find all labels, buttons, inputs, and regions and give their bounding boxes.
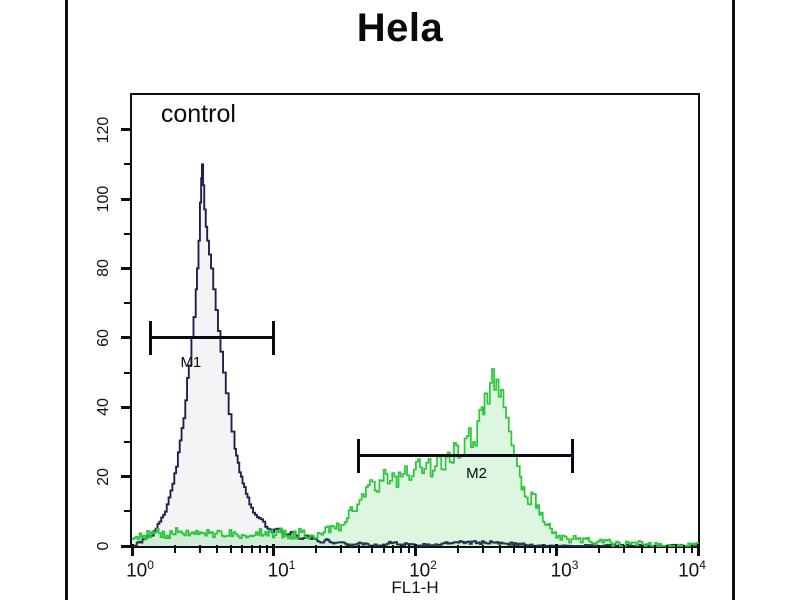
- x-axis-tick-label: 103: [551, 558, 579, 582]
- y-axis-minor-tick: [124, 302, 132, 304]
- marker-label-m2: M2: [466, 465, 487, 482]
- x-tick-exponent: 1: [289, 558, 296, 572]
- x-axis-minor-tick: [598, 545, 600, 553]
- y-axis-tick-label: 100: [95, 185, 113, 213]
- x-axis-major-tick: [272, 544, 275, 556]
- x-axis-minor-tick: [266, 545, 268, 553]
- x-axis-minor-tick: [383, 545, 385, 553]
- x-tick-exponent: 2: [430, 558, 437, 572]
- y-axis-major-tick: [121, 406, 132, 409]
- marker-cap-m1-left[interactable]: [149, 321, 152, 355]
- x-axis-minor-tick: [534, 545, 536, 553]
- x-axis-minor-tick: [691, 545, 693, 553]
- x-axis-minor-tick: [641, 545, 643, 553]
- marker-cap-m1-right[interactable]: [272, 321, 275, 355]
- plot-area: [132, 95, 698, 546]
- x-axis-minor-tick: [251, 545, 253, 553]
- y-axis-tick-label: 120: [95, 116, 113, 144]
- x-axis-minor-tick: [259, 545, 261, 553]
- y-axis-minor-tick: [124, 372, 132, 374]
- x-axis-minor-tick: [549, 545, 551, 553]
- x-axis-major-tick: [414, 544, 417, 556]
- x-tick-exponent: 0: [147, 558, 154, 572]
- x-axis-minor-tick: [482, 545, 484, 553]
- x-axis-minor-tick: [513, 545, 515, 553]
- x-tick-mantissa: 10: [409, 560, 430, 581]
- plot-frame: [130, 93, 700, 548]
- y-axis-tick-label: 80: [95, 254, 113, 282]
- x-tick-exponent: 3: [572, 558, 579, 572]
- x-tick-exponent: 4: [699, 558, 706, 572]
- y-axis-tick-label: 40: [95, 393, 113, 421]
- y-axis-minor-tick: [124, 233, 132, 235]
- x-axis-minor-tick: [371, 545, 373, 553]
- y-axis-tick-label: 20: [95, 463, 113, 491]
- x-axis-minor-tick: [499, 545, 501, 553]
- x-axis-major-tick: [131, 544, 134, 556]
- x-axis-tick-label: 101: [268, 558, 296, 582]
- x-axis-minor-tick: [230, 545, 232, 553]
- y-axis-tick-label: 60: [95, 324, 113, 352]
- x-axis-minor-tick: [400, 545, 402, 553]
- x-axis-minor-tick: [408, 545, 410, 553]
- marker-bar-m2[interactable]: [359, 454, 573, 457]
- y-axis-major-tick: [121, 475, 132, 478]
- figure-canvas: Hela Counts FL1-H 0204060801001201001011…: [0, 0, 800, 600]
- x-axis-minor-tick: [683, 545, 685, 553]
- x-tick-mantissa: 10: [678, 560, 699, 581]
- x-axis-minor-tick: [340, 545, 342, 553]
- x-axis-minor-tick: [654, 545, 656, 553]
- marker-cap-m2-right[interactable]: [571, 439, 574, 473]
- x-axis-minor-tick: [174, 545, 176, 553]
- curve-label-control: control: [161, 100, 236, 129]
- x-axis-tick-label: 100: [126, 558, 154, 582]
- x-axis-minor-tick: [315, 545, 317, 553]
- x-axis-minor-tick: [542, 545, 544, 553]
- x-axis-minor-tick: [675, 545, 677, 553]
- y-axis-minor-tick: [124, 163, 132, 165]
- marker-bar-m1[interactable]: [150, 336, 273, 339]
- x-axis-minor-tick: [199, 545, 201, 553]
- y-axis-minor-tick: [124, 510, 132, 512]
- x-axis-minor-tick: [524, 545, 526, 553]
- x-axis-minor-tick: [358, 545, 360, 553]
- x-axis-minor-tick: [457, 545, 459, 553]
- y-axis-major-tick: [121, 336, 132, 339]
- y-axis-tick-label: 0: [95, 532, 113, 560]
- y-axis-title: Counts: [0, 250, 1, 298]
- histogram-curves: [132, 95, 698, 546]
- x-tick-mantissa: 10: [551, 560, 572, 581]
- marker-label-m1: M1: [180, 354, 201, 371]
- x-axis-minor-tick: [392, 545, 394, 553]
- x-axis-major-tick: [697, 544, 700, 556]
- x-axis-minor-tick: [216, 545, 218, 553]
- x-tick-mantissa: 10: [126, 560, 147, 581]
- x-axis-minor-tick: [623, 545, 625, 553]
- y-axis-major-tick: [121, 198, 132, 201]
- x-tick-mantissa: 10: [268, 560, 289, 581]
- x-axis-tick-label: 104: [678, 558, 706, 582]
- x-axis-minor-tick: [241, 545, 243, 553]
- figure-title: Hela: [65, 8, 735, 48]
- marker-cap-m2-left[interactable]: [357, 439, 360, 473]
- x-axis-tick-label: 102: [409, 558, 437, 582]
- x-axis-minor-tick: [666, 545, 668, 553]
- y-axis-major-tick: [121, 128, 132, 131]
- x-axis-major-tick: [555, 544, 558, 556]
- y-axis-minor-tick: [124, 441, 132, 443]
- y-axis-major-tick: [121, 267, 132, 270]
